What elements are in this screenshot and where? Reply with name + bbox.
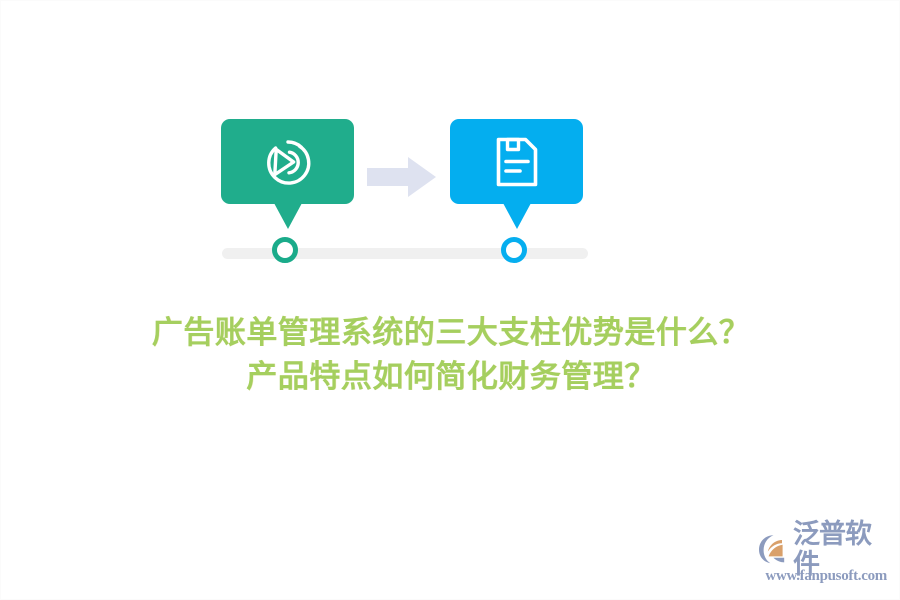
process-step-2[interactable] <box>450 119 583 204</box>
step-1-timeline-node[interactable] <box>272 237 298 263</box>
step-2-timeline-node[interactable] <box>501 237 527 263</box>
fanpusoft-logo-icon <box>757 532 791 566</box>
broadcast-signal-icon <box>261 135 315 189</box>
watermark: 泛普软件 www.fanpusoft.com <box>757 531 887 589</box>
document-save-icon <box>492 135 542 189</box>
step-1-card[interactable] <box>221 119 354 204</box>
step-2-card-pointer <box>503 203 531 229</box>
right-arrow-icon <box>367 156 437 198</box>
headline: 广告账单管理系统的三大支柱优势是什么？ 产品特点如何简化财务管理？ <box>1 311 900 399</box>
page-canvas: 广告账单管理系统的三大支柱优势是什么？ 产品特点如何简化财务管理？ 泛普软件 w… <box>0 0 900 600</box>
watermark-url: www.fanpusoft.com <box>757 568 887 585</box>
headline-line-2: 产品特点如何简化财务管理？ <box>1 355 900 399</box>
process-graphic <box>1 119 900 279</box>
process-step-1[interactable] <box>221 119 354 204</box>
step-1-card-pointer <box>274 203 302 229</box>
headline-line-1: 广告账单管理系统的三大支柱优势是什么？ <box>1 311 900 355</box>
step-2-card[interactable] <box>450 119 583 204</box>
